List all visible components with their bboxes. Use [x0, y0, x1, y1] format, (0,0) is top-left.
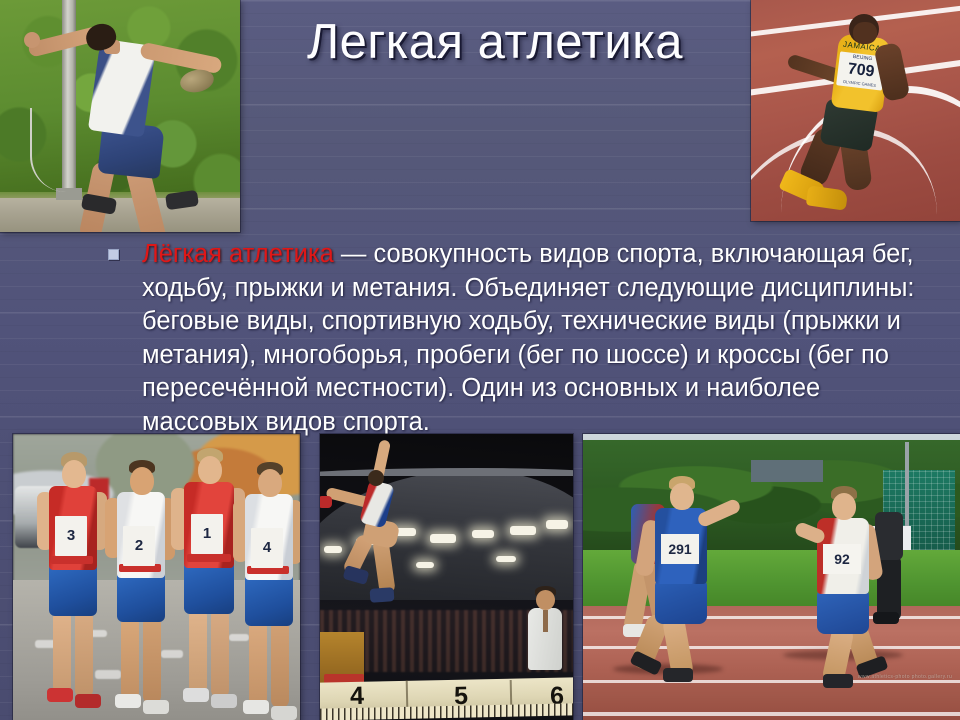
stadium-light [430, 534, 456, 543]
walker-bib-number: 1 [191, 514, 223, 554]
walker-shorts [117, 572, 165, 622]
walker-head [258, 469, 282, 497]
walker-shoe [143, 700, 169, 714]
walker-shoe [75, 694, 101, 708]
runner-bib-number: 92 [823, 544, 861, 574]
walker-bib-number: 2 [123, 526, 155, 566]
race-walker: 3 [35, 452, 113, 714]
walker-head [130, 467, 154, 495]
stadium-light [324, 546, 342, 553]
walker-leg [189, 608, 207, 694]
walker-shoe [115, 694, 141, 708]
walker-leg [271, 620, 289, 708]
sprinter-photo: JAMAICA BEIJING 709 OLYMPIC GAMES [751, 0, 960, 221]
race-walker: 2 [105, 460, 181, 718]
walker-shoe [271, 706, 297, 720]
walker-leg [249, 620, 267, 706]
walker-leg [121, 616, 139, 700]
vest-sponsor-band [187, 554, 231, 562]
lead-term: Лёгкая атлетика [142, 240, 334, 268]
slide-title: Легкая атлетика [240, 14, 750, 70]
board-distance-mark: 4 [344, 682, 371, 711]
walker-shoe [211, 694, 237, 708]
slide-body: Лёгкая атлетика — совокупность видов спо… [100, 238, 920, 440]
thrower-left-fist [24, 32, 40, 48]
stadium-light [546, 520, 568, 529]
walker-bib-number: 3 [55, 516, 87, 556]
walker-head [62, 460, 86, 488]
walker-leg [211, 608, 229, 698]
stadium-light [496, 556, 516, 562]
walker-shoe [183, 688, 209, 702]
jumper-hand [320, 496, 332, 508]
presentation-slide: Легкая атлетика Лёгкая атлетика — совоку… [0, 0, 960, 720]
long-jump-photo: 4 5 6 [320, 434, 573, 720]
bullet-item-text: Лёгкая атлетика — совокупность видов спо… [142, 238, 920, 440]
stadium-light [416, 562, 434, 568]
stadium-light [472, 530, 494, 538]
walker-shorts [184, 562, 234, 614]
jumper-head [368, 470, 384, 486]
race-walker: 4 [235, 462, 300, 718]
walker-shorts [49, 564, 97, 616]
walker-shorts [245, 574, 293, 626]
walker-shoe [243, 700, 269, 714]
sprint-finish-photo: 291 92 www.athletics-photo photo.gallery… [583, 434, 960, 720]
runner-shorts [655, 580, 707, 624]
runner-front-arm [696, 498, 742, 529]
square-bullet-icon [108, 249, 119, 260]
lane-line [583, 712, 960, 716]
photo-watermark: www.athletics-photo photo.gallery.ru [855, 674, 955, 696]
runner-front-shoe [663, 668, 693, 682]
walker-leg [75, 610, 93, 698]
discus-thrower-photo [0, 0, 240, 232]
walker-head [198, 456, 222, 484]
jumper-back-shoe [370, 587, 395, 603]
runner-front-shoe [823, 674, 853, 688]
walker-shoe [47, 688, 73, 702]
walker-bib-number: 4 [251, 528, 283, 568]
walker-leg [143, 616, 161, 704]
vest-sponsor-band [51, 556, 93, 564]
bullet-list-item: Лёгкая атлетика — совокупность видов спо… [100, 238, 920, 440]
stadium-roof-edge [320, 468, 573, 476]
runner-shorts [817, 590, 869, 634]
sprinter-face [853, 22, 877, 44]
stadium-light [510, 526, 536, 535]
bullet-item-body: — совокупность видов спорта, включающая … [142, 240, 915, 436]
runner-head [670, 483, 694, 510]
official-tie [543, 610, 548, 632]
stadium-fence [751, 460, 823, 482]
walker-leg [53, 610, 71, 694]
runner-head [832, 493, 856, 520]
runner-bib-number: 291 [661, 534, 699, 564]
race-walkers-photo: 3 2 1 [13, 434, 300, 720]
concrete-path [0, 198, 240, 232]
official-head [536, 590, 555, 610]
sprint-runner: 291 [637, 476, 737, 676]
sprint-runner: 92 [799, 486, 899, 682]
